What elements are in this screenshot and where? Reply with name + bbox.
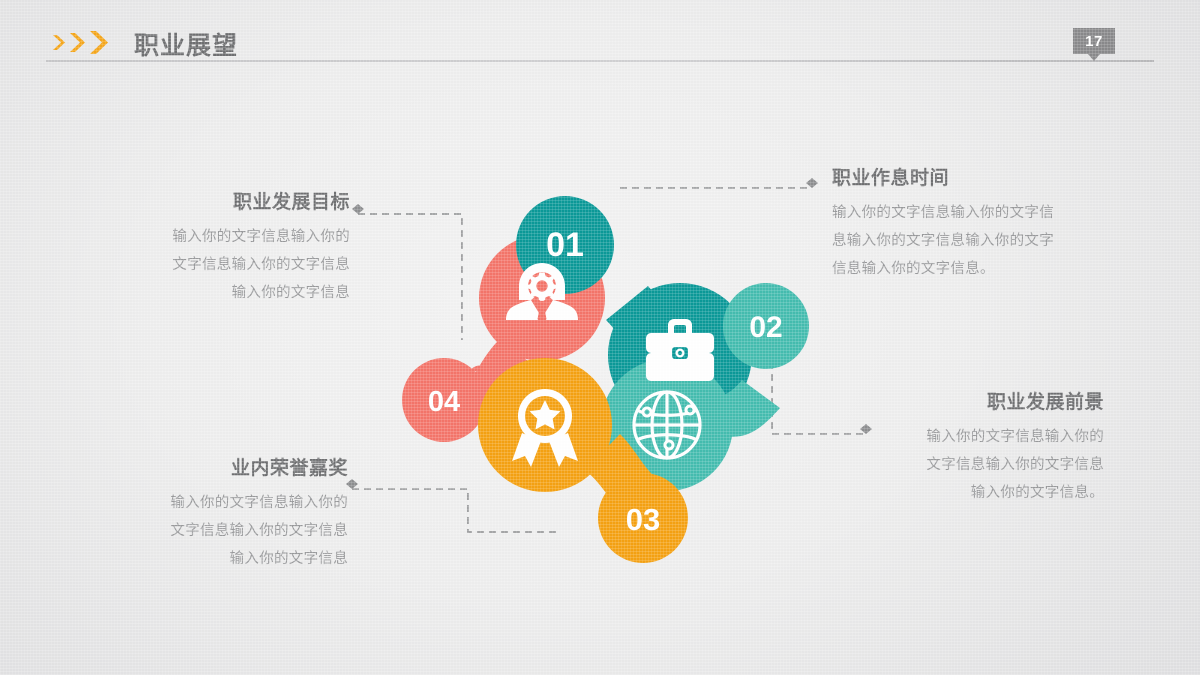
- slide-header: 职业展望 17: [0, 0, 1200, 64]
- text-block-goal-body: 输入你的文字信息输入你的 文字信息输入你的文字信息 输入你的文字信息: [110, 223, 350, 308]
- text-block-future-body: 输入你的文字信息输入你的 文字信息输入你的文字信息 输入你的文字信息。: [880, 423, 1104, 508]
- page-number-badge: 17: [1073, 28, 1115, 54]
- body-line: 息输入你的文字信息输入你的文字: [832, 227, 1104, 255]
- text-block-time-body: 输入你的文字信息输入你的文字信 息输入你的文字信息输入你的文字 信息输入你的文字…: [832, 199, 1104, 284]
- body-line: 输入你的文字信息。: [880, 479, 1104, 507]
- header-divider: [46, 60, 1154, 62]
- text-block-honor-body: 输入你的文字信息输入你的 文字信息输入你的文字信息 输入你的文字信息: [108, 489, 348, 574]
- chevrons-right-icon: [52, 30, 110, 55]
- diamond-marker-02: [860, 424, 872, 434]
- body-line: 文字信息输入你的文字信息: [108, 517, 348, 545]
- text-block-goal: 职业发展目标 输入你的文字信息输入你的 文字信息输入你的文字信息 输入你的文字信…: [110, 192, 350, 308]
- body-line: 输入你的文字信息: [110, 279, 350, 307]
- text-block-goal-title: 职业发展目标: [110, 192, 350, 215]
- body-line: 文字信息输入你的文字信息: [110, 251, 350, 279]
- text-block-future: 职业发展前景 输入你的文字信息输入你的 文字信息输入你的文字信息 输入你的文字信…: [880, 392, 1104, 508]
- text-block-honor: 业内荣誉嘉奖 输入你的文字信息输入你的 文字信息输入你的文字信息 输入你的文字信…: [108, 458, 348, 574]
- body-line: 输入你的文字信息输入你的: [880, 423, 1104, 451]
- node-01-number: 01: [546, 226, 584, 264]
- node-02-number: 02: [749, 311, 782, 344]
- text-block-time-title: 职业作息时间: [832, 168, 1104, 191]
- page-title: 职业展望: [134, 26, 238, 62]
- node-03-number: 03: [626, 502, 660, 537]
- body-line: 文字信息输入你的文字信息: [880, 451, 1104, 479]
- body-line: 输入你的文字信息输入你的: [108, 489, 348, 517]
- text-block-future-title: 职业发展前景: [880, 392, 1104, 415]
- slide-canvas: 职业展望 17: [0, 0, 1200, 675]
- body-line: 输入你的文字信息: [108, 545, 348, 573]
- text-block-time: 职业作息时间 输入你的文字信息输入你的文字信 息输入你的文字信息输入你的文字 信…: [832, 168, 1104, 284]
- body-line: 输入你的文字信息输入你的文字信: [832, 199, 1104, 227]
- body-line: 信息输入你的文字信息。: [832, 255, 1104, 283]
- central-infographic: 01 02 03 04: [380, 140, 820, 570]
- diamond-marker-04: [352, 204, 364, 214]
- body-line: 输入你的文字信息输入你的: [110, 223, 350, 251]
- text-block-honor-title: 业内荣誉嘉奖: [108, 458, 348, 481]
- node-04-number: 04: [428, 386, 460, 418]
